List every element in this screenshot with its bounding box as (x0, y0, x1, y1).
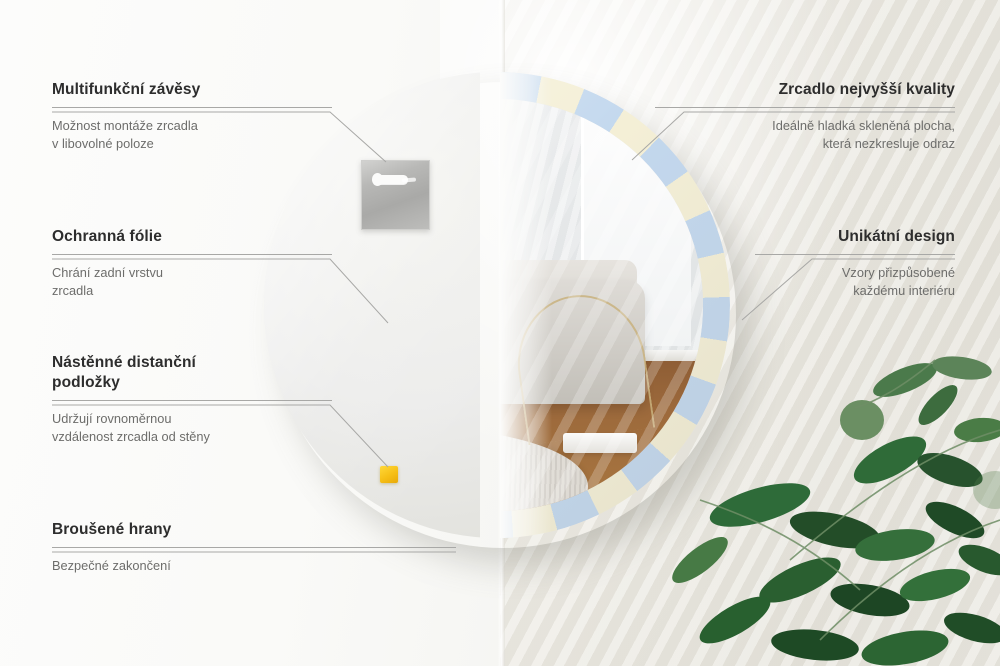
keyhole-slot-secondary-icon (402, 178, 416, 183)
callout-rule (52, 400, 332, 401)
callout-rule (52, 107, 332, 108)
callout-title: Unikátní design (755, 227, 955, 247)
callout-rule (52, 254, 332, 255)
callout-rule (52, 547, 456, 548)
front-half-edge-fade (500, 72, 552, 538)
callout-rule (655, 107, 955, 108)
callout-title: Multifunkční závěsy (52, 80, 332, 100)
callout-rule (755, 254, 955, 255)
callout-description: Možnost montáže zrcadla v libovolné polo… (52, 117, 332, 154)
callout-title: Ochranná fólie (52, 227, 332, 247)
callout-title: Zrcadlo nejvyšší kvality (655, 80, 955, 100)
callout-unikatni-design: Unikátní design Vzory přizpůsobené každé… (755, 227, 955, 301)
callout-brousene-hrany: Broušené hrany Bezpečné zakončení (52, 520, 456, 575)
callout-ochranna-folie: Ochranná fólie Chrání zadní vrstvu zrcad… (52, 227, 332, 301)
callout-description: Ideálně hladká skleněná plocha, která ne… (655, 117, 955, 154)
hanger-bracket (361, 160, 430, 230)
callout-description: Chrání zadní vrstvu zrcadla (52, 264, 332, 301)
callout-description: Udržují rovnoměrnou vzdálenost zrcadla o… (52, 410, 332, 447)
product-infographic: Multifunkční závěsy Možnost montáže zrca… (0, 0, 1000, 666)
callout-title: Broušené hrany (52, 520, 456, 540)
reflected-books (563, 433, 637, 454)
wall-spacer-pad (380, 466, 398, 483)
callout-nastenne-distancni-podlozky: Nástěnné distanční podložky Udržují rovn… (52, 353, 332, 447)
callout-title: Nástěnné distanční podložky (52, 353, 332, 393)
callout-description: Bezpečné zakončení (52, 557, 456, 576)
callout-multifunkcni-zavesy: Multifunkční závěsy Možnost montáže zrca… (52, 80, 332, 154)
callout-description: Vzory přizpůsobené každému interiéru (755, 264, 955, 301)
callout-zrcadlo-nejvyssi-kvality: Zrcadlo nejvyšší kvality Ideálně hladká … (655, 80, 955, 154)
